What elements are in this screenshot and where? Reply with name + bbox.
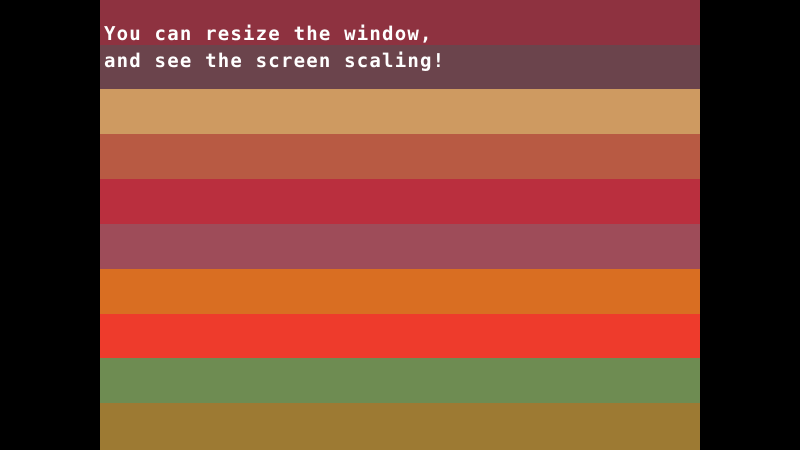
band-olive-green [100, 358, 700, 403]
band-crimson [100, 179, 700, 224]
scaled-game-viewport [100, 0, 700, 450]
band-crimson-dark [100, 0, 700, 45]
band-brown-gold [100, 403, 700, 450]
letterbox-right [700, 0, 800, 450]
game-window[interactable]: You can resize the window, and see the s… [0, 0, 800, 450]
band-orange [100, 269, 700, 314]
band-red-bright [100, 314, 700, 358]
band-terracotta [100, 134, 700, 179]
letterbox-left [0, 0, 100, 450]
band-dusty-rose [100, 224, 700, 269]
band-maroon-muted [100, 45, 700, 89]
band-tan-sand [100, 89, 700, 134]
